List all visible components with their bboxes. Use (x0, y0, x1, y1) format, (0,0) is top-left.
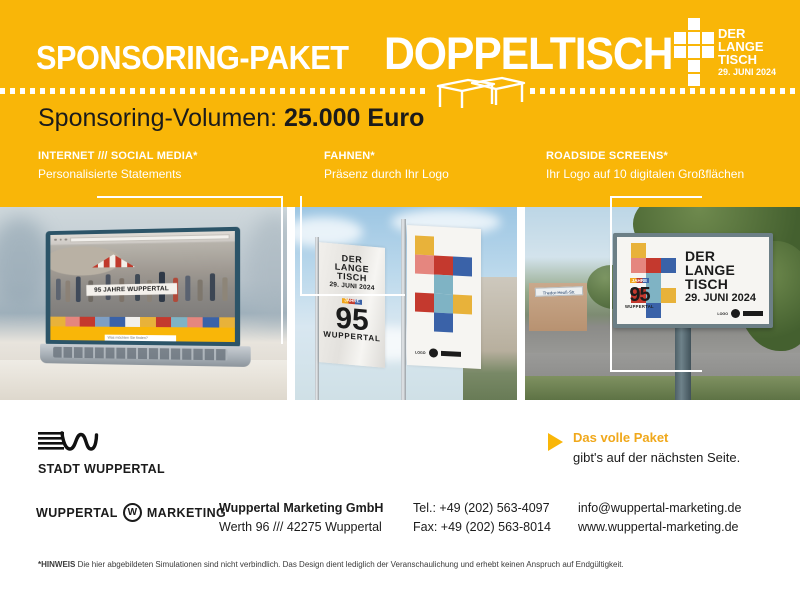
feature-sub-fahnen: Präsenz durch Ihr Logo (324, 167, 449, 181)
logo-pixel (415, 235, 434, 255)
company-website[interactable]: www.wuppertal-marketing.de (578, 518, 741, 537)
feature-column-internet: INTERNET /// SOCIAL MEDIA* Personalisier… (38, 150, 198, 181)
logo-pixel (415, 292, 434, 312)
feature-sub-internet: Personalisierte Statements (38, 167, 198, 181)
cta-line2: gibt's auf der nächsten Seite. (573, 450, 740, 465)
billboard-logo-box-icon (743, 311, 763, 316)
callout-frame-internet (97, 196, 283, 344)
company-address: Werth 96 /// 42275 Wuppertal (219, 518, 383, 537)
billboard-logo-left: LOGO (717, 312, 728, 316)
browser-dot-icon (64, 238, 66, 240)
callout-frame-fahnen (300, 196, 405, 296)
flag-b-logo-box-icon (441, 351, 461, 357)
feature-column-fahnen: FAHNEN* Präsenz durch Ihr Logo (324, 150, 449, 181)
header-banner: SPONSORING-PAKET DOPPELTISCH DER LANGE (0, 0, 800, 207)
billboard-logo-circle-icon (731, 309, 740, 318)
company-fax: Fax: +49 (202) 563-8014 (413, 518, 551, 537)
feature-head-fahnen: FAHNEN* (324, 150, 449, 162)
logo-pixel (453, 294, 472, 314)
cta-block: Das volle Paket gibt's auf der nächsten … (548, 430, 740, 465)
laptop-base (40, 344, 251, 367)
logo-pixel (434, 255, 453, 275)
page-title: SPONSORING-PAKET DOPPELTISCH (36, 28, 688, 80)
street-name-sign: Thedor-Heuß-Str. (535, 286, 583, 297)
pixel-table-cross-icon: DER LANGE TISCH 29. JUNI 2024 (670, 16, 782, 86)
brand-logo-line4: 29. JUNI 2024 (718, 67, 776, 77)
footnote-text: Die hier abgebildeten Simulationen sind … (78, 560, 624, 569)
crowd-person (76, 277, 81, 303)
flag-b-sponsor-logos: LOGO (415, 347, 461, 358)
wm-logo-left: WUPPERTAL (36, 506, 118, 520)
contact-online: info@wuppertal-marketing.de www.wupperta… (578, 499, 741, 538)
logo-pixel (434, 274, 453, 294)
browser-dot-icon (54, 239, 56, 241)
footnote-label: *HINWEIS (38, 560, 75, 569)
feature-head-internet: INTERNET /// SOCIAL MEDIA* (38, 150, 198, 162)
footnote: *HINWEIS Die hier abgebildeten Simulatio… (38, 560, 624, 569)
logo-pixel (434, 293, 453, 313)
crowd-person (56, 279, 61, 300)
contact-phone: Tel.: +49 (202) 563-4097 Fax: +49 (202) … (413, 499, 551, 538)
sponsoring-volume-label: Sponsoring-Volumen: (38, 104, 277, 132)
feature-sub-roadside: Ihr Logo auf 10 digitalen Großflächen (546, 167, 744, 181)
image-gap (517, 207, 525, 400)
double-table-icon (432, 74, 528, 110)
page-title-light: SPONSORING-PAKET (36, 39, 349, 77)
sponsoring-volume: Sponsoring-Volumen: 25.000 Euro (38, 104, 424, 133)
brand-logo-line3: TISCH (718, 52, 757, 67)
wuppertal-wave-icon (38, 430, 100, 454)
company-email[interactable]: info@wuppertal-marketing.de (578, 499, 741, 518)
flag-color-logo: LOGO (407, 225, 481, 369)
crowd-person (65, 281, 70, 303)
image-gap (287, 207, 295, 400)
stripe-swatch (65, 317, 80, 327)
stadt-wuppertal-label: STADT WUPPERTAL (38, 462, 165, 476)
feature-column-roadside: ROADSIDE SCREENS* Ihr Logo auf 10 digita… (546, 150, 744, 181)
stadt-wuppertal-logo (38, 430, 100, 454)
footer: STADT WUPPERTAL Das volle Paket gibt's a… (0, 400, 800, 597)
cta-line1: Das volle Paket (573, 430, 740, 445)
flag-b-pixel-logo (415, 235, 473, 334)
logo-pixel (415, 254, 434, 274)
flag-b-logo-circle-icon (429, 348, 438, 357)
sponsoring-volume-value: 25.000 Euro (284, 104, 424, 132)
callout-line-roadside (610, 370, 702, 372)
stripe-swatch (80, 317, 95, 327)
flag-b-logo-left: LOGO (415, 350, 426, 355)
callout-frame-roadside (610, 196, 702, 372)
der-lange-tisch-logo: DER LANGE TISCH 29. JUNI 2024 (670, 16, 782, 86)
wm-logo-right: MARKETING (147, 506, 226, 520)
company-name: Wuppertal Marketing GmbH (219, 499, 383, 518)
logo-pixel (434, 312, 453, 332)
contact-company: Wuppertal Marketing GmbH Werth 96 /// 42… (219, 499, 383, 538)
triangle-right-icon (548, 433, 563, 451)
laptop-keyboard (53, 347, 227, 361)
company-tel: Tel.: +49 (202) 563-4097 (413, 499, 551, 518)
feature-head-roadside: ROADSIDE SCREENS* (546, 150, 744, 162)
billboard-sponsor-logos: LOGO (717, 309, 763, 318)
wuppertal-marketing-logo: WUPPERTAL W MARKETING (36, 503, 226, 522)
dotted-divider (0, 88, 800, 94)
logo-pixel (453, 256, 472, 276)
browser-dot-icon (59, 238, 61, 240)
page-title-bold: DOPPELTISCH (384, 28, 672, 80)
stripe-swatch (50, 317, 65, 327)
sponsoring-flyer-page: SPONSORING-PAKET DOPPELTISCH DER LANGE (0, 0, 800, 597)
wm-logo-mark-icon: W (123, 503, 142, 522)
grass-strip (525, 376, 800, 400)
